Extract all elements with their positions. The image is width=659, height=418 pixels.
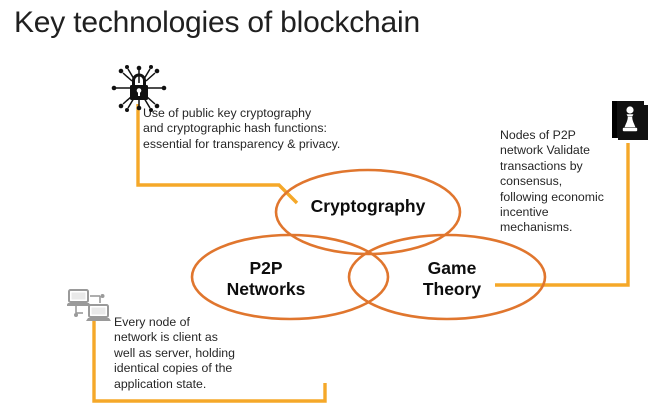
venn-label-p2p-line2: Networks <box>196 279 336 300</box>
venn-label-game-line1: Game <box>392 258 512 279</box>
venn-label-p2p-line1: P2P <box>196 258 336 279</box>
venn-label-game-theory: Game Theory <box>392 258 512 300</box>
venn-label-cryptography: Cryptography <box>283 196 453 217</box>
callout-line: identical copies of the <box>114 361 254 376</box>
callout-line: Nodes of P2P <box>500 128 612 143</box>
callout-line: network Validate <box>500 143 612 158</box>
callout-line: incentive <box>500 205 612 220</box>
callout-line: well as server, holding <box>114 346 254 361</box>
callout-line: Use of public key cryptography <box>143 106 375 121</box>
venn-label-game-line2: Theory <box>392 279 512 300</box>
callout-line: following economic <box>500 190 612 205</box>
callout-line: application state. <box>114 377 254 392</box>
callout-line: consensus, <box>500 174 612 189</box>
callout-line: and cryptographic hash functions: <box>143 121 375 136</box>
slide-canvas: Key technologies of blockchain Cryptogra… <box>0 0 659 418</box>
callout-line: transactions by <box>500 159 612 174</box>
callout-line: Every node of <box>114 315 254 330</box>
callout-text-game-theory: Nodes of P2P network Validate transactio… <box>500 128 612 236</box>
venn-label-p2p-networks: P2P Networks <box>196 258 336 300</box>
book-pawn-icon <box>610 101 652 145</box>
callout-line: mechanisms. <box>500 220 612 235</box>
callout-line: essential for transparency & privacy. <box>143 137 375 152</box>
callout-line: network is client as <box>114 330 254 345</box>
networked-computers-icon <box>67 287 117 327</box>
callout-text-p2p-networks: Every node of network is client as well … <box>114 315 254 392</box>
callout-text-cryptography: Use of public key cryptography and crypt… <box>143 106 375 152</box>
padlock-network-icon <box>110 63 168 113</box>
